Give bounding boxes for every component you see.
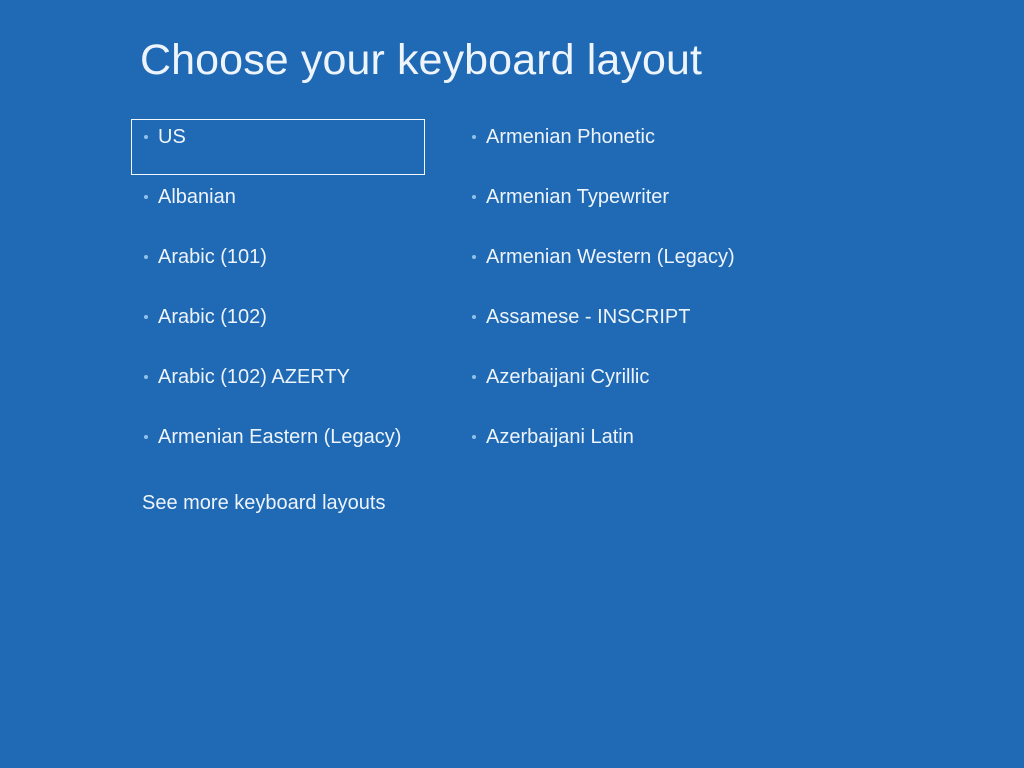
keyboard-layout-item[interactable]: Arabic (101): [131, 239, 425, 295]
keyboard-layout-item-label: Albanian: [158, 187, 424, 207]
bullet-dot-icon: [144, 195, 156, 199]
keyboard-layout-item-label: Arabic (102): [158, 307, 424, 327]
bullet-dot-icon: [472, 375, 484, 379]
recovery-keyboard-layout-screen: Choose your keyboard layout USAlbanianAr…: [0, 0, 1024, 768]
keyboard-layout-item[interactable]: US: [131, 119, 425, 175]
keyboard-layout-item-label: Arabic (102) AZERTY: [158, 367, 424, 387]
keyboard-layout-item[interactable]: Armenian Typewriter: [459, 179, 789, 235]
keyboard-layout-item-label: Azerbaijani Latin: [486, 427, 788, 447]
see-more-keyboard-layouts-link[interactable]: See more keyboard layouts: [142, 493, 385, 513]
keyboard-layout-item[interactable]: Albanian: [131, 179, 425, 235]
keyboard-layout-item-label: Armenian Phonetic: [486, 127, 788, 147]
bullet-dot-icon: [472, 435, 484, 439]
keyboard-layout-item[interactable]: Armenian Western (Legacy): [459, 239, 789, 295]
bullet-dot-icon: [144, 375, 156, 379]
bullet-dot-icon: [472, 315, 484, 319]
keyboard-layout-item[interactable]: Assamese - INSCRIPT: [459, 299, 789, 355]
keyboard-layout-item-label: US: [158, 127, 424, 147]
bullet-dot-icon: [472, 255, 484, 259]
keyboard-layout-item[interactable]: Armenian Phonetic: [459, 119, 789, 175]
bullet-dot-icon: [472, 195, 484, 199]
keyboard-layout-item-label: Azerbaijani Cyrillic: [486, 367, 788, 387]
bullet-dot-icon: [144, 135, 156, 139]
bullet-dot-icon: [144, 255, 156, 259]
keyboard-layout-item[interactable]: Armenian Eastern (Legacy): [131, 419, 425, 475]
keyboard-layout-item[interactable]: Azerbaijani Cyrillic: [459, 359, 789, 415]
keyboard-layout-item-label: Assamese - INSCRIPT: [486, 307, 788, 327]
keyboard-layout-item[interactable]: Arabic (102) AZERTY: [131, 359, 425, 415]
keyboard-layout-item[interactable]: Arabic (102): [131, 299, 425, 355]
keyboard-layout-item[interactable]: Azerbaijani Latin: [459, 419, 789, 475]
keyboard-layout-item-label: Armenian Western (Legacy): [486, 247, 788, 267]
bullet-dot-icon: [144, 315, 156, 319]
bullet-dot-icon: [144, 435, 156, 439]
keyboard-layout-item-label: Armenian Eastern (Legacy): [158, 427, 424, 447]
keyboard-layout-list: USAlbanianArabic (101)Arabic (102)Arabic…: [0, 0, 1024, 768]
keyboard-layout-item-label: Arabic (101): [158, 247, 424, 267]
bullet-dot-icon: [472, 135, 484, 139]
keyboard-layout-item-label: Armenian Typewriter: [486, 187, 788, 207]
